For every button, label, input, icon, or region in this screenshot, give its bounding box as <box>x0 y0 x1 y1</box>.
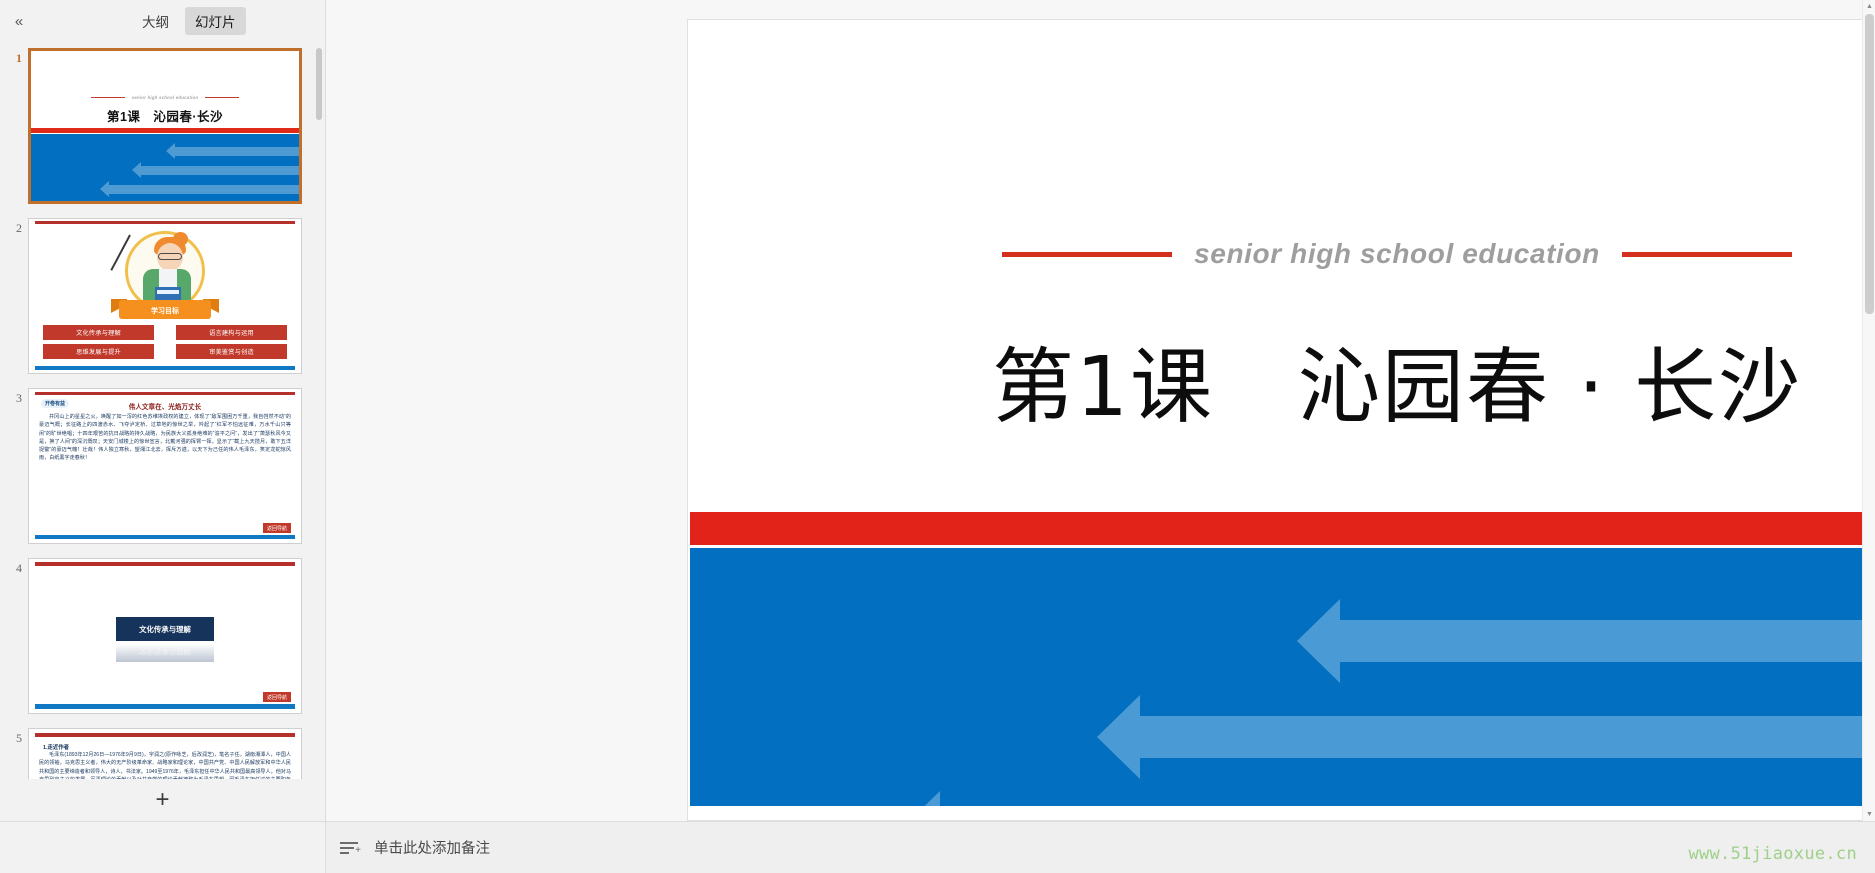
thumbnail-scrollbar[interactable] <box>315 48 323 773</box>
active-slide-canvas[interactable]: senior high school education 第1课 沁园春 · 长… <box>688 20 1875 820</box>
thumbnail-number-2: 2 <box>4 218 28 236</box>
thumb5-content: 1.走近作者 毛泽东(1893年12月26日—1976年9月9日)，字润之(原作… <box>29 729 301 779</box>
notes-line-3 <box>340 852 349 854</box>
thumb1-subtitle: senior high school education <box>132 95 199 100</box>
thumbnail-canvas-2[interactable]: 学习目标 文化传承与理解 语言建构与运用 思维发展与提升 审美鉴赏与创造 <box>28 218 302 374</box>
objective-button-1: 文化传承与理解 <box>43 325 154 340</box>
main-body: « 大纲 幻灯片 1 senior hig <box>0 0 1875 821</box>
thumb5-red-band <box>35 733 295 737</box>
thumb4-red-band <box>35 562 295 566</box>
thumbnail-canvas-4[interactable]: 文化传承与理解 文化传承与理解 返回导航 <box>28 558 302 714</box>
collapse-panel-icon[interactable]: « <box>6 8 32 34</box>
thumb5-body-text: 毛泽东(1893年12月26日—1976年9月9日)，字润之(原作咏芝，后改润芝… <box>39 751 291 779</box>
navigator-toolbar: « 大纲 幻灯片 <box>0 0 325 42</box>
objective-button-4: 审美鉴赏与创造 <box>176 344 287 359</box>
stage-scrollbar-thumb[interactable] <box>1865 14 1874 314</box>
notes-bar: + 单击此处添加备注 www.51jiaoxue.cn <box>0 821 1875 873</box>
thumb1-arrow-3-icon <box>109 185 299 194</box>
notes-icon: + <box>340 839 362 857</box>
thumb3-title: 伟人文章在、光焰万丈长 <box>29 401 301 411</box>
thumbnail-scroll-area[interactable]: 1 senior high school education 第1课 沁园春·长… <box>0 42 325 779</box>
thumb1-red-band <box>31 128 299 133</box>
book-page <box>157 290 179 294</box>
slide-red-band <box>690 512 1875 545</box>
thumbnail-canvas-3[interactable]: 开卷有益 伟人文章在、光焰万丈长 井冈山上的星星之火，唤醒了如一泻的红色苏维埃政… <box>28 388 302 544</box>
teacher-illustration-icon: 学习目标 <box>113 229 217 321</box>
left-arrow-1-icon <box>1340 620 1875 662</box>
thumbnail-item-3[interactable]: 3 开卷有益 伟人文章在、光焰万丈长 井冈山上的星星之火，唤醒了如一泻的红色苏维… <box>0 388 325 544</box>
left-arrow-2-icon <box>1140 716 1875 758</box>
notes-line-2 <box>340 847 354 849</box>
scroll-down-icon[interactable]: ▼ <box>1863 808 1875 821</box>
thumbnail-scrollbar-track[interactable] <box>315 48 323 773</box>
notes-plus-glyph: + <box>355 846 361 856</box>
thumb2-banner-label: 学习目标 <box>119 306 211 316</box>
site-watermark: www.51jiaoxue.cn <box>1688 844 1857 864</box>
thumb3-content: 开卷有益 伟人文章在、光焰万丈长 井冈山上的星星之火，唤醒了如一泻的红色苏维埃政… <box>29 389 301 543</box>
thumb1-blue-panel <box>31 134 299 201</box>
slide-blue-panel <box>690 548 1875 806</box>
stage-scrollbar[interactable]: ▲ ▼ <box>1862 0 1875 821</box>
thumb1-title: 第1课 沁园春·长沙 <box>31 106 299 125</box>
thumb1-arrow-2-icon <box>141 166 299 175</box>
notes-placeholder[interactable]: 单击此处添加备注 <box>374 837 490 858</box>
navigator-tabs: 大纲 幻灯片 <box>132 7 246 35</box>
powerpoint-editor-window: « 大纲 幻灯片 1 senior hig <box>0 0 1875 873</box>
add-slide-button[interactable]: + <box>155 788 169 812</box>
glasses-icon <box>158 253 182 260</box>
tab-outline[interactable]: 大纲 <box>132 7 179 35</box>
slide-title[interactable]: 第1课 沁园春 · 长沙 <box>688 320 1875 439</box>
thumb3-blue-band <box>35 535 295 539</box>
thumbnail-item-2[interactable]: 2 <box>0 218 325 374</box>
thumb2-content: 学习目标 文化传承与理解 语言建构与运用 思维发展与提升 审美鉴赏与创造 <box>29 219 301 373</box>
thumbnail-scrollbar-thumb[interactable] <box>316 48 322 120</box>
add-slide-bar: + <box>0 779 325 821</box>
thumb2-objective-buttons: 文化传承与理解 语言建构与运用 思维发展与提升 审美鉴赏与创造 <box>43 325 287 359</box>
slide-navigator-panel: « 大纲 幻灯片 1 senior hig <box>0 0 326 821</box>
subtitle-rule-right <box>1622 252 1792 257</box>
slide-subtitle-row: senior high school education <box>688 238 1875 270</box>
thumb4-content: 文化传承与理解 文化传承与理解 返回导航 <box>29 559 301 713</box>
thumbnail-number-1: 1 <box>4 48 28 66</box>
thumb4-blue-band <box>35 704 295 709</box>
thumb2-red-band <box>35 221 295 224</box>
thumbnail-canvas-5[interactable]: 1.走近作者 毛泽东(1893年12月26日—1976年9月9日)，字润之(原作… <box>28 728 302 779</box>
thumbnail-canvas-1[interactable]: senior high school education 第1课 沁园春·长沙 <box>28 48 302 204</box>
notes-line-1 <box>340 842 358 844</box>
thumb5-heading: 1.走近作者 <box>43 743 69 751</box>
thumb2-blue-band <box>35 366 295 370</box>
thumbnail-number-5: 5 <box>4 728 28 746</box>
scroll-up-icon[interactable]: ▲ <box>1863 0 1875 13</box>
thumb1-content: senior high school education 第1课 沁园春·长沙 <box>31 51 299 201</box>
thumb3-return-badge: 返回导航 <box>263 523 291 533</box>
thumb1-rule-left <box>91 97 125 99</box>
thumbnail-item-1[interactable]: 1 senior high school education 第1课 沁园春·长… <box>0 48 325 204</box>
thumb1-rule-right <box>205 97 239 99</box>
thumbnail-list: 1 senior high school education 第1课 沁园春·长… <box>0 42 325 779</box>
objective-button-2: 语言建构与运用 <box>176 325 287 340</box>
thumbnail-item-5[interactable]: 5 1.走近作者 毛泽东(1893年12月26日—1976年9月9日)，字润之(… <box>0 728 325 779</box>
thumbnail-number-4: 4 <box>4 558 28 576</box>
thumbnail-number-3: 3 <box>4 388 28 406</box>
notes-bar-left-spacer <box>0 822 326 873</box>
thumb3-red-band <box>35 392 295 395</box>
subtitle-rule-left <box>1002 252 1172 257</box>
objective-button-3: 思维发展与提升 <box>43 344 154 359</box>
slide-editing-stage[interactable]: senior high school education 第1课 沁园春 · 长… <box>326 0 1875 821</box>
thumb1-arrow-1-icon <box>175 147 299 156</box>
thumbnail-item-4[interactable]: 4 文化传承与理解 文化传承与理解 返回导航 <box>0 558 325 714</box>
thumb4-return-badge: 返回导航 <box>263 692 291 702</box>
thumb4-section-title: 文化传承与理解 <box>116 617 214 641</box>
slide-subtitle[interactable]: senior high school education <box>1194 238 1600 270</box>
thumb1-subtitle-row: senior high school education <box>31 95 299 100</box>
tab-slides[interactable]: 幻灯片 <box>185 7 246 35</box>
thumb3-body-text: 井冈山上的星星之火，唤醒了如一泻的红色苏维埃政权的建立，体现了“敌军围困万千重，… <box>39 413 291 463</box>
thumb4-section-title-reflection: 文化传承与理解 <box>116 642 214 662</box>
